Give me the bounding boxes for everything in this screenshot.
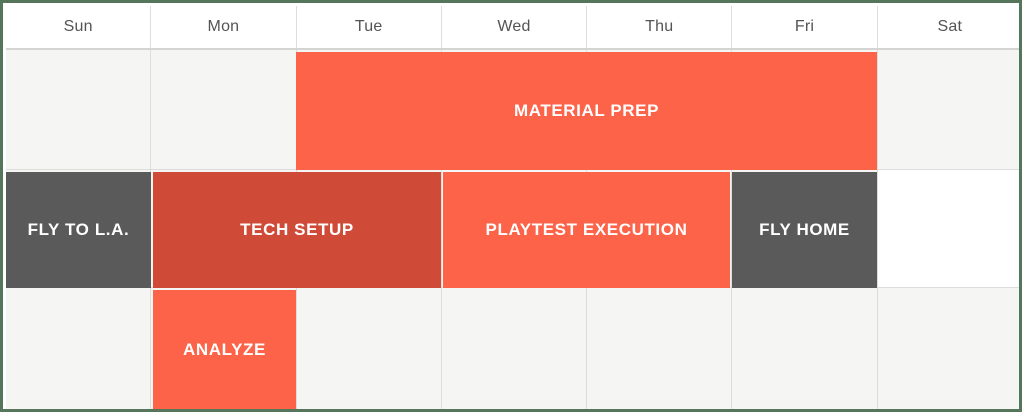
calendar-frame: Sun Mon Tue Wed Thu Fri Sat xyxy=(0,0,1022,412)
event-fly-home-label: FLY HOME xyxy=(759,220,850,240)
event-material-prep[interactable]: MATERIAL PREP xyxy=(296,52,877,170)
event-playtest-execution-label: PLAYTEST EXECUTION xyxy=(486,220,688,240)
event-analyze-label: ANALYZE xyxy=(183,340,266,360)
event-fly-to-la[interactable]: FLY TO L.A. xyxy=(6,172,151,288)
calendar-inner: Sun Mon Tue Wed Thu Fri Sat xyxy=(6,6,1022,412)
calendar-events-layer: MATERIAL PREPFLY TO L.A.TECH SETUPPLAYTE… xyxy=(6,6,1022,412)
event-fly-to-la-label: FLY TO L.A. xyxy=(28,220,130,240)
event-fly-home[interactable]: FLY HOME xyxy=(732,172,877,288)
event-playtest-execution[interactable]: PLAYTEST EXECUTION xyxy=(443,172,730,288)
event-material-prep-label: MATERIAL PREP xyxy=(514,101,659,121)
event-tech-setup[interactable]: TECH SETUP xyxy=(153,172,441,288)
event-analyze[interactable]: ANALYZE xyxy=(153,290,296,410)
event-tech-setup-label: TECH SETUP xyxy=(240,220,354,240)
